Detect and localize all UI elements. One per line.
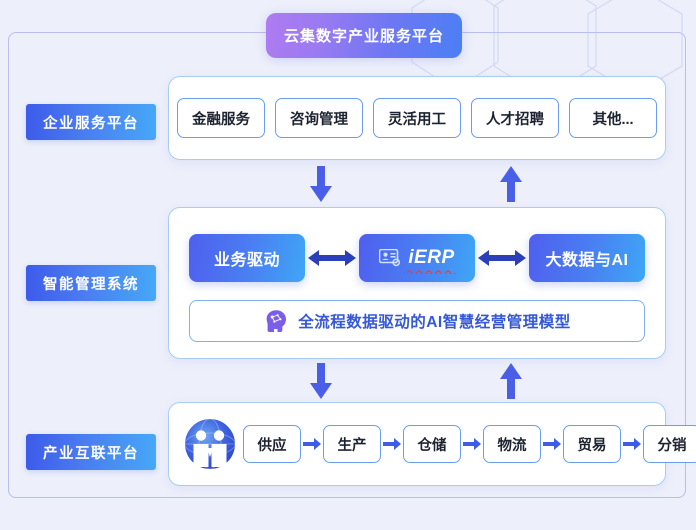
connector-double-arrow-right bbox=[475, 249, 529, 267]
enterprise-item-recruitment[interactable]: 人才招聘 bbox=[471, 98, 559, 138]
ai-model-banner[interactable]: 全流程数据驱动的AI智慧经营管理模型 bbox=[189, 300, 645, 342]
row-label-enterprise: 企业服务平台 bbox=[26, 104, 156, 140]
chain-arrow-1 bbox=[301, 438, 323, 450]
industry-chain-items: 供应 生产 仓储 物流 贸易 分销 bbox=[243, 425, 696, 463]
row-label-industry: 产业互联平台 bbox=[26, 434, 156, 470]
enterprise-item-other[interactable]: 其他... bbox=[569, 98, 657, 138]
management-card-business-driven[interactable]: 业务驱动 bbox=[189, 234, 305, 282]
management-card-bigdata-ai-label: 大数据与AI bbox=[545, 246, 628, 270]
id-card-gear-icon bbox=[379, 249, 401, 267]
connector-down-arrow-bottom bbox=[310, 363, 332, 399]
connector-double-arrow-left bbox=[305, 249, 359, 267]
chain-arrow-3 bbox=[461, 438, 483, 450]
enterprise-item-list: 金融服务 咨询管理 灵活用工 人才招聘 其他... bbox=[169, 98, 665, 138]
ai-brain-head-icon bbox=[263, 308, 289, 334]
enterprise-item-financial[interactable]: 金融服务 bbox=[177, 98, 265, 138]
chain-item-distribution[interactable]: 分销 bbox=[643, 425, 696, 463]
management-card-ierp-label: iERP bbox=[408, 247, 454, 269]
industry-chain-row: 供应 生产 仓储 物流 贸易 分销 bbox=[183, 417, 649, 471]
row-label-management: 智能管理系统 bbox=[26, 265, 156, 301]
management-card-bigdata-ai[interactable]: 大数据与AI bbox=[529, 234, 645, 282]
enterprise-item-consulting[interactable]: 咨询管理 bbox=[275, 98, 363, 138]
ai-model-banner-label: 全流程数据驱动的AI智慧经营管理模型 bbox=[298, 310, 571, 332]
section-management: 业务驱动 iERP bbox=[168, 207, 666, 359]
chain-item-production[interactable]: 生产 bbox=[323, 425, 381, 463]
section-enterprise: 金融服务 咨询管理 灵活用工 人才招聘 其他... bbox=[168, 76, 666, 160]
chain-item-supply[interactable]: 供应 bbox=[243, 425, 301, 463]
connector-up-arrow-top bbox=[500, 166, 522, 202]
page-title: 云集数字产业服务平台 bbox=[266, 13, 462, 58]
connector-up-arrow-bottom bbox=[500, 363, 522, 399]
management-card-business-driven-label: 业务驱动 bbox=[214, 246, 280, 270]
globe-people-icon bbox=[183, 417, 237, 471]
spellcheck-squiggle bbox=[407, 269, 455, 274]
chain-item-trade[interactable]: 贸易 bbox=[563, 425, 621, 463]
enterprise-item-flexible-employment[interactable]: 灵活用工 bbox=[373, 98, 461, 138]
section-industry: 供应 生产 仓储 物流 贸易 分销 bbox=[168, 402, 666, 486]
chain-arrow-4 bbox=[541, 438, 563, 450]
management-card-row: 业务驱动 iERP bbox=[189, 234, 645, 282]
chain-arrow-5 bbox=[621, 438, 643, 450]
chain-arrow-2 bbox=[381, 438, 403, 450]
chain-item-logistics[interactable]: 物流 bbox=[483, 425, 541, 463]
chain-item-warehousing[interactable]: 仓储 bbox=[403, 425, 461, 463]
connector-down-arrow-top bbox=[310, 166, 332, 202]
management-card-ierp[interactable]: iERP bbox=[359, 234, 475, 282]
